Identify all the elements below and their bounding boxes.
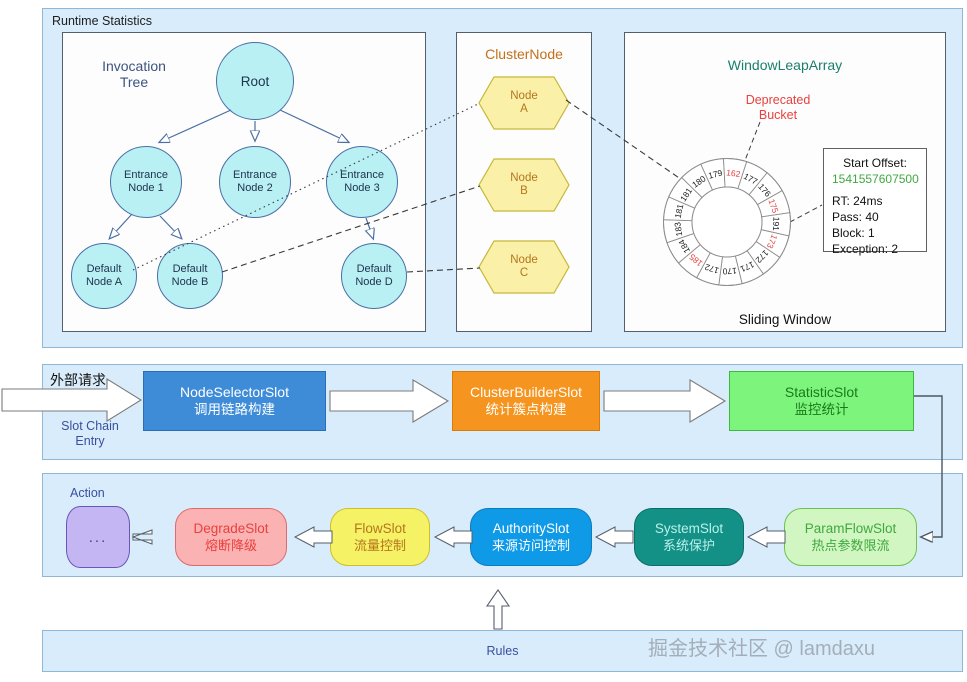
cluster-node-a-l1: Node <box>510 90 538 102</box>
slot-chain-entry-l2: Entry <box>75 434 104 448</box>
tree-node-entrance-1-l1: Entrance <box>124 169 168 181</box>
slot-chain-entry-label: Slot Chain Entry <box>40 419 140 449</box>
tree-node-default-d-l2: Node D <box>355 276 392 288</box>
deprecated-bucket-l2: Bucket <box>759 108 797 122</box>
bucket-rt: RT: 24ms <box>832 193 918 209</box>
action-slot-param-flow[interactable]: ParamFlowSlot 热点参数限流 <box>784 508 917 566</box>
tree-node-default-a-l2: Node A <box>86 276 122 288</box>
tree-node-entrance-3-label: Entrance Node 3 <box>340 169 384 195</box>
cluster-node-b-l1: Node <box>510 172 538 184</box>
action-slot-authority-en: AuthoritySlot <box>493 520 570 537</box>
slot-chain-entry-l1: Slot Chain <box>61 419 119 433</box>
cluster-node-c-l1: Node <box>510 254 538 266</box>
tree-node-root[interactable]: Root <box>216 42 294 120</box>
slot-cluster-builder-cn: 统计簇点构建 <box>486 401 567 419</box>
invocation-tree-title-line1: Invocation <box>102 58 166 74</box>
rules-label: Rules <box>487 644 519 658</box>
action-slot-ellipsis-label: ... <box>89 529 108 546</box>
diagram-canvas: Runtime Statistics Invocation Tree Root … <box>0 0 967 682</box>
cluster-node-a-label: Node A <box>478 76 570 130</box>
tree-node-entrance-1-l2: Node 1 <box>128 182 163 194</box>
action-slot-authority-cn: 来源访问控制 <box>492 537 570 554</box>
slot-statistic-en: StatisticSlot <box>785 383 858 401</box>
tree-node-entrance-2-l2: Node 2 <box>237 182 272 194</box>
action-slot-ellipsis[interactable]: ... <box>66 506 130 568</box>
tree-node-root-label: Root <box>241 75 270 88</box>
tree-node-entrance-1[interactable]: Entrance Node 1 <box>110 146 182 218</box>
slot-statistic-cn: 监控统计 <box>795 401 849 419</box>
cluster-node-b-l2: B <box>520 185 528 197</box>
slot-node-selector-en: NodeSelectorSlot <box>180 383 289 401</box>
tree-node-default-b[interactable]: Default Node B <box>157 243 223 309</box>
action-slot-param-flow-en: ParamFlowSlot <box>805 520 897 537</box>
slot-cluster-builder-en: ClusterBuilderSlot <box>470 383 582 401</box>
tree-node-default-d[interactable]: Default Node D <box>341 243 407 309</box>
cluster-node-c-l2: C <box>520 267 528 279</box>
cluster-node-b-label: Node B <box>478 158 570 212</box>
deprecated-bucket-l1: Deprecated <box>746 93 811 107</box>
slot-cluster-builder[interactable]: ClusterBuilderSlot 统计簇点构建 <box>452 371 600 431</box>
action-slot-system-en: SystemSlot <box>655 520 723 537</box>
watermark: 掘金技术社区 @ lamdaxu <box>648 632 875 661</box>
panel-runtime-statistics-title: Runtime Statistics <box>52 14 152 28</box>
slot-node-selector[interactable]: NodeSelectorSlot 调用链路构建 <box>143 371 326 431</box>
tree-node-entrance-3[interactable]: Entrance Node 3 <box>326 146 398 218</box>
cluster-node-title: ClusterNode <box>456 46 592 62</box>
slot-statistic[interactable]: StatisticSlot 监控统计 <box>729 371 914 431</box>
action-slot-system-cn: 系统保护 <box>663 537 715 554</box>
action-slot-authority[interactable]: AuthoritySlot 来源访问控制 <box>470 508 592 566</box>
action-slot-flow-en: FlowSlot <box>354 520 406 537</box>
tree-node-default-d-l1: Default <box>357 263 392 275</box>
cluster-node-b[interactable]: Node B <box>478 158 570 212</box>
action-slot-param-flow-cn: 热点参数限流 <box>811 537 889 554</box>
cluster-node-c-label: Node C <box>478 240 570 294</box>
cluster-node-c[interactable]: Node C <box>478 240 570 294</box>
action-slot-degrade[interactable]: DegradeSlot 熔断降级 <box>175 508 287 566</box>
cluster-node-a-l2: A <box>520 103 528 115</box>
action-title: Action <box>70 486 130 501</box>
bucket-info-box: Start Offset: 1541557607500 RT: 24ms Pas… <box>823 148 927 252</box>
window-leap-array-title: WindowLeapArray <box>624 57 946 73</box>
tree-node-entrance-2-l1: Entrance <box>233 169 277 181</box>
bucket-block: Block: 1 <box>832 225 918 241</box>
sliding-window-label: Sliding Window <box>624 312 946 327</box>
tree-node-default-b-l2: Node B <box>172 276 209 288</box>
action-slot-flow[interactable]: FlowSlot 流量控制 <box>330 508 430 566</box>
tree-node-entrance-1-label: Entrance Node 1 <box>124 169 168 195</box>
tree-node-default-a-label: Default Node A <box>86 263 122 289</box>
deprecated-bucket-label: Deprecated Bucket <box>718 93 838 123</box>
tree-node-default-b-label: Default Node B <box>172 263 209 289</box>
invocation-tree-title-line2: Tree <box>120 74 148 90</box>
cluster-node-a[interactable]: Node A <box>478 76 570 130</box>
action-slot-flow-cn: 流量控制 <box>354 537 406 554</box>
tree-node-default-b-l1: Default <box>173 263 208 275</box>
external-request-label: 外部请求 <box>50 370 106 390</box>
tree-node-default-a[interactable]: Default Node A <box>71 243 137 309</box>
start-offset-value: 1541557607500 <box>832 171 918 187</box>
tree-node-entrance-3-l1: Entrance <box>340 169 384 181</box>
action-slot-system[interactable]: SystemSlot 系统保护 <box>634 508 744 566</box>
tree-node-entrance-3-l2: Node 3 <box>344 182 379 194</box>
bucket-exception: Exception: 2 <box>832 241 918 257</box>
action-slot-degrade-cn: 熔断降级 <box>205 537 257 554</box>
arrow-rules-to-action <box>487 590 509 629</box>
tree-node-default-a-l1: Default <box>87 263 122 275</box>
start-offset-label: Start Offset: <box>832 155 918 171</box>
invocation-tree-title: Invocation Tree <box>82 58 186 90</box>
tree-node-entrance-2-label: Entrance Node 2 <box>233 169 277 195</box>
action-slot-degrade-en: DegradeSlot <box>193 520 268 537</box>
tree-node-default-d-label: Default Node D <box>355 263 392 289</box>
slot-node-selector-cn: 调用链路构建 <box>194 401 275 419</box>
bucket-pass: Pass: 40 <box>832 209 918 225</box>
tree-node-entrance-2[interactable]: Entrance Node 2 <box>219 146 291 218</box>
